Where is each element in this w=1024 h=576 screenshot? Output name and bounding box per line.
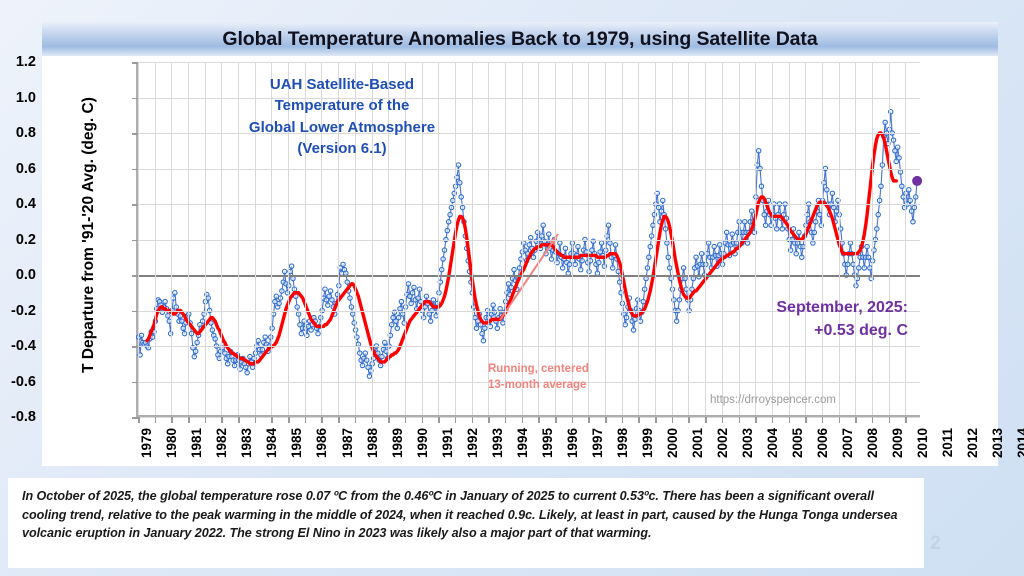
x-axis-tick-mark <box>438 417 440 423</box>
x-axis-tick-mark <box>422 417 424 423</box>
gridline-vertical <box>138 62 139 415</box>
x-axis-tick-label: 2008 <box>865 428 880 458</box>
dataset-label-line-1: Temperature of the <box>202 95 482 116</box>
x-axis-tick-label: 1995 <box>540 428 555 458</box>
x-axis-tick-mark <box>522 417 524 423</box>
source-watermark: https://drroyspencer.com <box>710 394 836 406</box>
x-axis-tick-mark <box>288 417 290 423</box>
gridline-vertical <box>855 62 856 415</box>
x-axis-tick-mark <box>638 417 640 423</box>
x-axis-tick-mark <box>722 417 724 423</box>
x-axis-tick-label: 2000 <box>665 428 680 458</box>
caption-box: In October of 2025, the global temperatu… <box>8 478 924 568</box>
x-axis-tick-label: 1996 <box>565 428 580 458</box>
x-axis-tick-mark <box>622 417 624 423</box>
x-axis-tick-mark <box>321 417 323 423</box>
x-axis-tick-label: 1993 <box>490 428 505 458</box>
x-axis-tick-label: 2002 <box>715 428 730 458</box>
latest-data-point-marker <box>912 176 922 186</box>
x-axis-tick-label: 1994 <box>515 428 530 458</box>
chart-panel: T Departure from '91-'20 Avg. (deg. C) -… <box>42 56 998 466</box>
gridline-vertical <box>688 62 689 415</box>
gridline-vertical <box>872 62 873 415</box>
latest-value-line-1: +0.53 deg. C <box>678 319 908 342</box>
x-axis-tick-mark <box>789 417 791 423</box>
x-axis-tick-label: 1997 <box>590 428 605 458</box>
x-axis-tick-label: 2014 <box>1015 428 1024 458</box>
gridline-vertical <box>739 62 740 415</box>
x-axis-tick-mark <box>238 417 240 423</box>
gridline-vertical <box>722 62 723 415</box>
x-axis-tick-mark <box>338 417 340 423</box>
x-axis-tick-mark <box>505 417 507 423</box>
x-axis-tick-label: 2003 <box>740 428 755 458</box>
x-axis-tick-mark <box>271 417 273 423</box>
x-axis-tick-mark <box>739 417 741 423</box>
y-axis-tick-label: 0.0 <box>0 267 36 283</box>
x-axis-tick-label: 1988 <box>365 428 380 458</box>
x-axis-tick-mark <box>372 417 374 423</box>
caption-text: In October of 2025, the global temperatu… <box>22 487 910 543</box>
running-average-annotation: Running, centered13-month average <box>488 362 688 393</box>
gridline-vertical <box>839 62 840 415</box>
x-axis-tick-mark <box>572 417 574 423</box>
x-axis-tick-label: 2010 <box>915 428 930 458</box>
dataset-label-line-3: (Version 6.1) <box>202 138 482 159</box>
x-axis-tick-label: 1987 <box>340 428 355 458</box>
x-axis-tick-label: 1991 <box>440 428 455 458</box>
x-axis-tick-label: 1979 <box>139 428 154 458</box>
gridline-vertical <box>188 62 189 415</box>
x-axis-tick-label: 1981 <box>189 428 204 458</box>
x-axis-tick-mark <box>205 417 207 423</box>
gridline-vertical <box>789 62 790 415</box>
x-axis-tick-mark <box>872 417 874 423</box>
x-axis-tick-mark <box>772 417 774 423</box>
x-axis-tick-mark <box>488 417 490 423</box>
x-axis-tick-mark <box>705 417 707 423</box>
y-axis-tick-label: 0.4 <box>0 196 36 212</box>
gridline-vertical <box>805 62 806 415</box>
running-avg-line-1: 13-month average <box>488 378 688 394</box>
x-axis-tick-label: 2012 <box>965 428 980 458</box>
x-axis-tick-mark <box>688 417 690 423</box>
y-axis-tick-label: -0.8 <box>0 409 36 425</box>
x-axis-tick-mark <box>555 417 557 423</box>
x-axis-tick-mark <box>305 417 307 423</box>
latest-value-line-0: September, 2025: <box>678 296 908 319</box>
x-axis-tick-mark <box>588 417 590 423</box>
page-number: 2 <box>930 533 941 555</box>
page-title: Global Temperature Anomalies Back to 197… <box>42 22 998 56</box>
x-axis-tick-mark <box>255 417 257 423</box>
gridline-vertical <box>772 62 773 415</box>
x-axis-tick-label: 1980 <box>164 428 179 458</box>
x-axis-tick-label: 2007 <box>840 428 855 458</box>
gridline-vertical <box>755 62 756 415</box>
x-axis-tick-label: 1998 <box>615 428 630 458</box>
x-axis-tick-label: 1999 <box>640 428 655 458</box>
x-axis-tick-mark <box>655 417 657 423</box>
y-axis-tick-label: 1.2 <box>0 54 36 70</box>
x-axis-tick-label: 1985 <box>289 428 304 458</box>
x-axis-tick-label: 2011 <box>940 428 955 457</box>
x-axis-tick-mark <box>155 417 157 423</box>
x-axis-tick-mark <box>455 417 457 423</box>
x-axis-tick-mark <box>221 417 223 423</box>
x-axis-tick-label: 1990 <box>415 428 430 458</box>
x-axis-tick-mark <box>171 417 173 423</box>
x-axis-tick-mark <box>188 417 190 423</box>
y-axis-title: T Departure from '91-'20 Avg. (deg. C) <box>80 70 98 400</box>
x-axis-tick-mark <box>388 417 390 423</box>
gridline-vertical <box>155 62 156 415</box>
x-axis-tick-mark <box>905 417 907 423</box>
y-axis-tick-label: 0.6 <box>0 161 36 177</box>
x-axis-tick-mark <box>805 417 807 423</box>
gridline-vertical <box>705 62 706 415</box>
dataset-label-line-2: Global Lower Atmosphere <box>202 117 482 138</box>
x-axis-tick-mark <box>605 417 607 423</box>
y-axis-tick-label: -0.4 <box>0 338 36 354</box>
x-axis-tick-mark <box>472 417 474 423</box>
x-axis-tick-label: 2006 <box>815 428 830 458</box>
running-avg-line-0: Running, centered <box>488 362 688 378</box>
latest-value-label: September, 2025:+0.53 deg. C <box>678 296 908 342</box>
x-axis-tick-label: 2009 <box>890 428 905 458</box>
x-axis-tick-mark <box>538 417 540 423</box>
x-axis-tick-label: 2005 <box>790 428 805 458</box>
x-axis-tick-mark <box>672 417 674 423</box>
x-axis-tick-label: 1984 <box>264 428 279 458</box>
x-axis-tick-mark <box>755 417 757 423</box>
y-axis-tick-label: 0.8 <box>0 125 36 141</box>
x-axis-tick-mark <box>839 417 841 423</box>
y-axis-tick-label: -0.6 <box>0 374 36 390</box>
x-axis-tick-label: 1986 <box>314 428 329 458</box>
dataset-label-line-0: UAH Satellite-Based <box>202 74 482 95</box>
x-axis-tick-mark <box>822 417 824 423</box>
y-axis-tick-label: 0.2 <box>0 232 36 248</box>
gridline-vertical <box>822 62 823 415</box>
gridline-vertical <box>889 62 890 415</box>
x-axis-tick-label: 2013 <box>990 428 1005 458</box>
x-axis-tick-label: 1983 <box>239 428 254 458</box>
y-axis-tick-label: -0.2 <box>0 303 36 319</box>
x-axis-tick-mark <box>855 417 857 423</box>
x-axis-tick-label: 1989 <box>390 428 405 458</box>
x-axis-tick-mark <box>889 417 891 423</box>
x-axis-tick-label: 1982 <box>214 428 229 458</box>
x-axis-tick-label: 2004 <box>765 428 780 458</box>
x-axis-tick-mark <box>405 417 407 423</box>
x-axis-tick-label: 2001 <box>690 428 705 458</box>
gridline-vertical <box>905 62 906 415</box>
gridline-vertical <box>171 62 172 415</box>
x-axis-tick-mark <box>355 417 357 423</box>
y-axis-tick-label: 1.0 <box>0 90 36 106</box>
x-axis-tick-mark <box>138 417 140 423</box>
x-axis-tick-label: 1992 <box>465 428 480 458</box>
dataset-label: UAH Satellite-BasedTemperature of theGlo… <box>202 74 482 159</box>
